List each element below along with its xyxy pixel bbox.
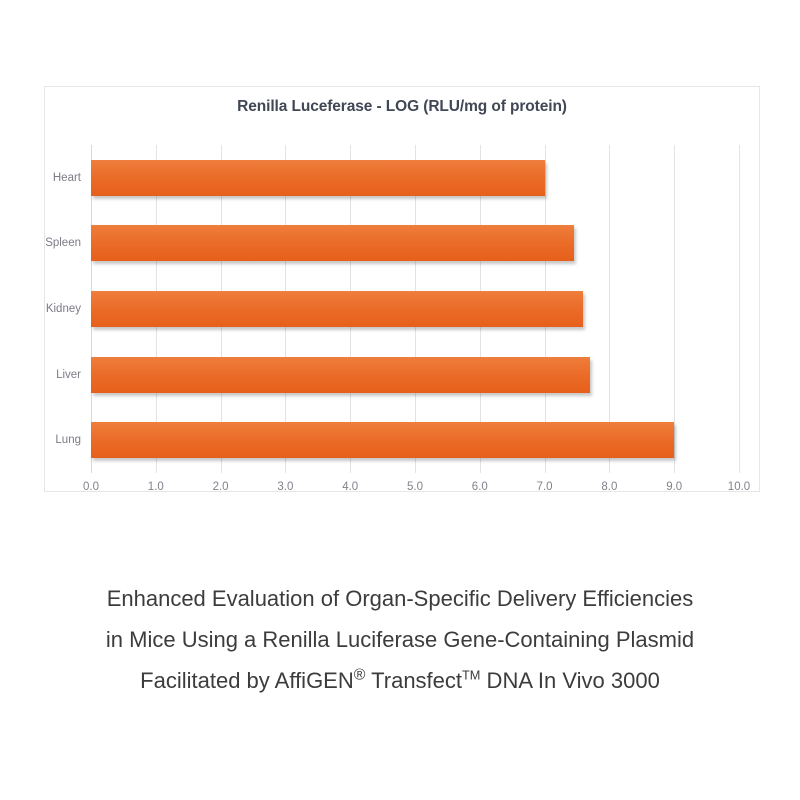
caption-line-1: Enhanced Evaluation of Organ-Specific De… <box>0 578 800 619</box>
x-tick-label: 0.0 <box>83 481 99 493</box>
figure-caption: Enhanced Evaluation of Organ-Specific De… <box>0 578 800 701</box>
x-tick-label: 9.0 <box>666 481 682 493</box>
bar-spleen[interactable] <box>91 225 574 261</box>
x-tick-label: 1.0 <box>148 481 164 493</box>
chart-title: Renilla Luceferase - LOG (RLU/mg of prot… <box>45 98 759 116</box>
x-tick-label: 6.0 <box>472 481 488 493</box>
bar-kidney[interactable] <box>91 291 583 327</box>
x-tick-label: 5.0 <box>407 481 423 493</box>
x-tick-label: 7.0 <box>537 481 553 493</box>
category-label-kidney: Kidney <box>46 303 81 315</box>
chart-panel: Renilla Luceferase - LOG (RLU/mg of prot… <box>44 86 760 492</box>
caption-line-3-text-1: Facilitated by AffiGEN <box>140 668 354 693</box>
bar-row: Heart <box>91 160 739 196</box>
caption-line-3-text-2: Transfect <box>365 668 462 693</box>
plot-area: HeartSpleenKidneyLiverLung 0.01.02.03.04… <box>91 145 739 473</box>
registered-trademark-symbol: ® <box>354 667 366 684</box>
x-tick-label: 4.0 <box>342 481 358 493</box>
category-label-liver: Liver <box>56 369 81 381</box>
bar-lung[interactable] <box>91 422 674 458</box>
bars-layer: HeartSpleenKidneyLiverLung <box>91 145 739 473</box>
bar-row: Liver <box>91 357 739 393</box>
caption-line-3: Facilitated by AffiGEN® TransfectTM DNA … <box>0 660 800 701</box>
bar-row: Lung <box>91 422 739 458</box>
x-tick-label: 3.0 <box>277 481 293 493</box>
x-tick-label: 8.0 <box>601 481 617 493</box>
x-tick-label: 2.0 <box>213 481 229 493</box>
category-label-spleen: Spleen <box>45 237 81 249</box>
bar-liver[interactable] <box>91 357 590 393</box>
bar-row: Spleen <box>91 225 739 261</box>
caption-line-2: in Mice Using a Renilla Luciferase Gene-… <box>0 619 800 660</box>
trademark-symbol: TM <box>462 668 480 683</box>
caption-line-3-text-3: DNA In Vivo 3000 <box>480 668 659 693</box>
category-label-lung: Lung <box>55 434 81 446</box>
category-label-heart: Heart <box>53 172 81 184</box>
x-tick-label: 10.0 <box>728 481 750 493</box>
gridline-10.0 <box>739 145 740 473</box>
bar-heart[interactable] <box>91 160 545 196</box>
bar-row: Kidney <box>91 291 739 327</box>
